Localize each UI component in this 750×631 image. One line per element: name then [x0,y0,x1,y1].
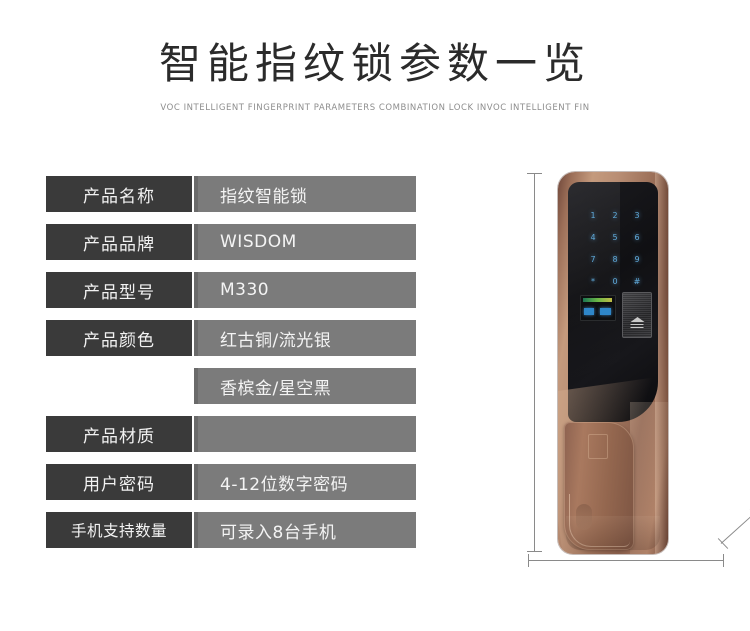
product-figure: 1 2 3 4 5 6 7 8 9 * 0 # [500,160,730,570]
keypad-key-0[interactable]: 0 [612,277,617,286]
spec-value: 4-12位数字密码 [194,464,416,500]
keypad-key-3[interactable]: 3 [634,211,639,220]
spec-value: 香槟金/星空黑 [194,368,416,404]
fingerprint-bar [631,324,644,326]
fingerprint-arrow-icon [630,317,645,330]
keypad-key-8[interactable]: 8 [612,255,617,264]
spec-label: 产品型号 [46,272,192,308]
spec-label: 产品材质 [46,416,192,452]
table-row: 产品型号 M330 [46,272,416,308]
spec-label: 产品名称 [46,176,192,212]
lock-bottom-cap [566,516,660,550]
page-subtitle: VOC INTELLIGENT FINGERPRINT PARAMETERS C… [0,102,750,114]
height-dimension-line [534,173,535,552]
spec-value: M330 [194,272,416,308]
keypad[interactable]: 1 2 3 4 5 6 7 8 9 * 0 # [582,204,648,292]
spec-value: WISDOM [194,224,416,260]
keypad-key-4[interactable]: 4 [590,233,595,242]
keypad-key-star[interactable]: * [591,277,595,286]
spec-value: 可录入8台手机 [194,512,416,548]
spec-value [194,416,416,452]
page-title: 智能指纹锁参数一览 [0,38,750,90]
lcd-indicator-left [584,308,594,315]
spec-label: 用户密码 [46,464,192,500]
keypad-key-7[interactable]: 7 [590,255,595,264]
depth-line-segment [721,514,750,544]
lcd-indicator-right [600,308,611,315]
chevron-up-icon [630,317,644,322]
keypad-key-5[interactable]: 5 [612,233,617,242]
table-row: 手机支持数量 可录入8台手机 [46,512,416,548]
table-row: 用户密码 4-12位数字密码 [46,464,416,500]
fingerprint-bar [631,327,644,329]
table-row: 产品品牌 WISDOM [46,224,416,260]
table-row: 产品名称 指纹智能锁 [46,176,416,212]
table-row: 产品颜色 红古铜/流光银 [46,320,416,356]
spec-label: 产品品牌 [46,224,192,260]
lcd-display [580,295,616,321]
spec-value: 红古铜/流光银 [194,320,416,356]
keypad-key-hash[interactable]: # [634,277,641,286]
width-dimension-line [528,560,724,561]
fingerprint-sensor[interactable] [622,292,652,338]
spec-value: 指纹智能锁 [194,176,416,212]
keypad-key-2[interactable]: 2 [612,211,617,220]
spec-label: 产品颜色 [46,320,192,356]
table-row: 产品材质 [46,416,416,452]
card-reader-zone [588,434,608,459]
spec-table: 产品名称 指纹智能锁 产品品牌 WISDOM 产品型号 M330 产品颜色 红古… [46,176,416,560]
lcd-status-bar [583,298,612,302]
keypad-key-1[interactable]: 1 [590,211,595,220]
depth-dimension-line [718,523,750,565]
spec-label-blank [46,368,192,404]
keypad-key-6[interactable]: 6 [634,233,639,242]
header: 智能指纹锁参数一览 VOC INTELLIGENT FINGERPRINT PA… [0,38,750,114]
smart-lock-body: 1 2 3 4 5 6 7 8 9 * 0 # [558,172,668,554]
page-root: 智能指纹锁参数一览 VOC INTELLIGENT FINGERPRINT PA… [0,0,750,631]
table-row-continuation: 香槟金/星空黑 [46,368,416,404]
spec-label: 手机支持数量 [46,512,192,548]
keypad-key-9[interactable]: 9 [634,255,639,264]
